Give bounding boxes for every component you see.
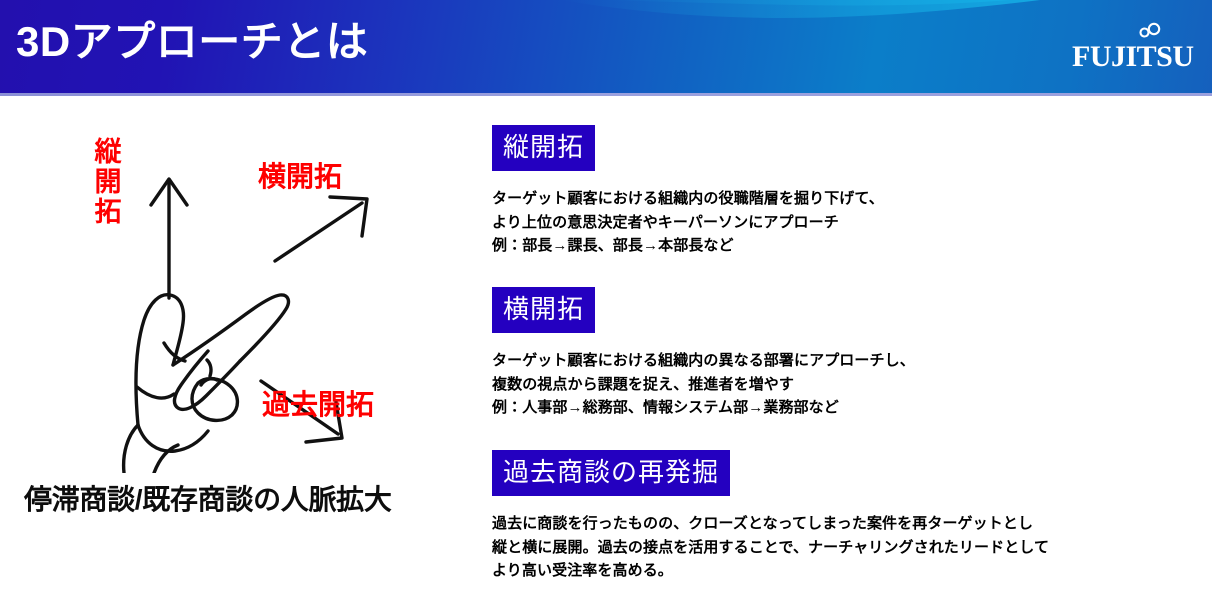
slide-header: 3Dアプローチとは FUJITSU bbox=[0, 0, 1212, 93]
body-line: ターゲット顧客における組織内の役職階層を掘り下げて、 bbox=[492, 187, 1208, 211]
diagram-label-horizontal: 横開拓 bbox=[258, 162, 342, 191]
body-line: より上位の意思決定者やキーパーソンにアプローチ bbox=[492, 211, 1208, 235]
diagram-label-past: 過去開拓 bbox=[262, 390, 374, 419]
fujitsu-wordmark: FUJITSU bbox=[1072, 40, 1194, 73]
fujitsu-logo: FUJITSU bbox=[1070, 22, 1194, 74]
body-line: 複数の視点から課題を捉え、推進者を増やす bbox=[492, 373, 1208, 397]
section-horizontal: 横開拓 ターゲット顧客における組織内の異なる部署にアプローチし、 複数の視点から… bbox=[492, 287, 1208, 420]
section-badge-horizontal: 横開拓 bbox=[492, 287, 595, 333]
diagram-label-vertical: 縦開拓 bbox=[92, 137, 124, 228]
hand-fingertip-joint bbox=[207, 360, 211, 376]
right-column: 縦開拓 ターゲット顧客における組織内の役職階層を掘り下げて、 より上位の意思決定… bbox=[492, 93, 1212, 602]
hand-wrist-left bbox=[124, 425, 138, 473]
body-line: 過去に商談を行ったものの、クローズとなってしまった案件を再ターゲットとし bbox=[492, 512, 1208, 536]
body-line: 例：部長→課長、部長→本部長など bbox=[492, 234, 1208, 258]
body-line: ターゲット顧客における組織内の異なる部署にアプローチし、 bbox=[492, 349, 1208, 373]
section-body-vertical: ターゲット顧客における組織内の役職階層を掘り下げて、 より上位の意思決定者やキー… bbox=[492, 187, 1208, 258]
body-line: 縦と横に展開。過去の接点を活用することで、ナーチャリングされたリードとして bbox=[492, 536, 1208, 560]
hand-curled-finger-crease bbox=[137, 387, 174, 398]
body-line: 例：人事部→総務部、情報システム部→業務部など bbox=[492, 396, 1208, 420]
page-title: 3Dアプローチとは bbox=[16, 14, 368, 70]
left-column: 縦開拓 横開拓 過去開拓 停滞商談/既存商談の人脈拡大 bbox=[0, 93, 480, 602]
hand-index-top-edge bbox=[173, 295, 288, 365]
section-badge-past-deals: 過去商談の再発掘 bbox=[492, 450, 730, 496]
section-past-deals: 過去商談の再発掘 過去に商談を行ったものの、クローズとなってしまった案件を再ター… bbox=[492, 450, 1208, 583]
section-body-horizontal: ターゲット顧客における組織内の異なる部署にアプローチし、 複数の視点から課題を捉… bbox=[492, 349, 1208, 420]
slide-root: 3Dアプローチとは FUJITSU bbox=[0, 0, 1212, 602]
section-body-past-deals: 過去に商談を行ったものの、クローズとなってしまった案件を再ターゲットとし 縦と横… bbox=[492, 512, 1208, 583]
diagram-caption: 停滞商談/既存商談の人脈拡大 bbox=[24, 478, 464, 518]
pointing-hand-illustration bbox=[18, 113, 448, 473]
section-vertical: 縦開拓 ターゲット顧客における組織内の役職階層を掘り下げて、 より上位の意思決定… bbox=[492, 125, 1208, 258]
section-badge-vertical: 縦開拓 bbox=[492, 125, 595, 171]
arrow-upright-shaft bbox=[275, 203, 362, 261]
body-line: より高い受注率を高める。 bbox=[492, 559, 1208, 583]
